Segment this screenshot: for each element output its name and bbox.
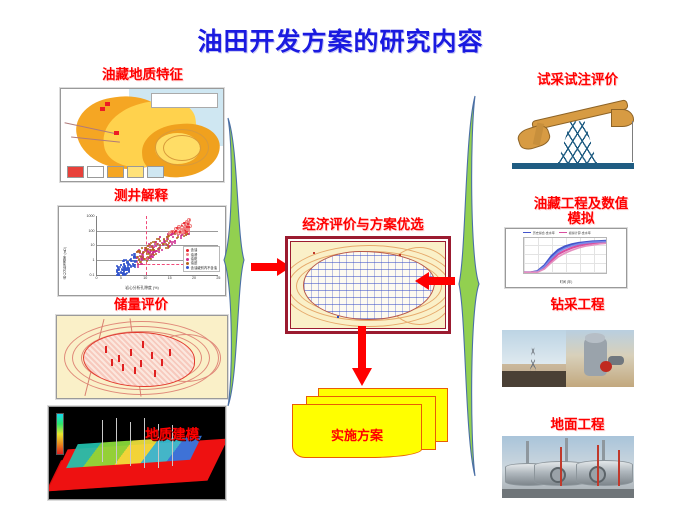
- implementation-plan-stack: 实施方案: [292, 388, 452, 458]
- scatter-legend: 含油油浸油斑油迹含油级别内不含油: [183, 246, 220, 272]
- pumpjack-base: [512, 163, 634, 169]
- x-tick: 20: [192, 276, 196, 280]
- model-colorbar: [56, 413, 64, 455]
- map-title-block: [151, 93, 218, 108]
- label-reservoir-engineering-simulation: 油藏工程及数值 模拟: [492, 196, 670, 226]
- scatter-point: [146, 253, 148, 255]
- scatter-point: [123, 263, 125, 265]
- label-economic-evaluation: 经济评价与方案优选: [283, 217, 443, 232]
- scatter-point: [174, 242, 176, 244]
- figure-3d-geological-model: 地质建模: [48, 406, 226, 500]
- x-tick: 25: [216, 276, 220, 280]
- label-geological-modeling: 地质建模: [123, 427, 222, 442]
- scatter-point: [163, 243, 165, 245]
- map-oil-block: [100, 107, 105, 111]
- scatter-x-axis-label: 岩心分析孔隙度 (%): [59, 286, 225, 291]
- scatter-point: [131, 254, 133, 256]
- label-reserve-evaluation: 储量评价: [58, 297, 224, 312]
- scatter-point: [176, 237, 178, 239]
- figure-surface-facility-photo: [502, 436, 634, 498]
- scatter-point: [129, 259, 131, 261]
- scatter-point: [142, 255, 144, 257]
- scatter-point: [166, 236, 168, 238]
- scatter-y-axis-label: 岩心分析渗透率 (mD): [62, 247, 67, 279]
- label-well-log-interpretation: 测井解释: [60, 188, 222, 203]
- slide-canvas: 油田开发方案的研究内容 油藏地质特征 测井解释 岩心分析渗透率 (mD) 100…: [0, 0, 681, 512]
- plan-sheet-front[interactable]: 实施方案: [292, 404, 422, 458]
- scatter-point: [167, 247, 169, 249]
- scatter-point: [186, 226, 188, 228]
- label-line-2: 模拟: [492, 211, 670, 226]
- scatter-point: [158, 251, 160, 253]
- simulation-x-axis-label: 时间 (年): [506, 279, 626, 284]
- legend-swatch: [186, 262, 189, 265]
- scatter-point: [137, 256, 139, 258]
- figure-drilling-rig-photo: [502, 330, 566, 387]
- scatter-point: [180, 237, 182, 239]
- scatter-point: [176, 227, 178, 229]
- scatter-point: [147, 250, 149, 252]
- legend-swatch: [186, 258, 189, 261]
- legend-label: 历史拟合-含水率: [533, 231, 555, 235]
- legend-label: 含油级别内不含油: [191, 266, 217, 270]
- figure-well-log-scatter: 岩心分析渗透率 (mD) 1000 100 10 1 0.1 0 5 10 15…: [58, 206, 226, 296]
- legend-swatch: [186, 266, 189, 269]
- vessel-manhole: [550, 467, 566, 483]
- scatter-point: [156, 250, 158, 252]
- figure-wellhead-photo: [566, 330, 634, 387]
- scatter-point: [152, 241, 154, 243]
- scatter-point: [137, 266, 139, 268]
- arrow-center-to-plan: [352, 326, 372, 386]
- scatter-point: [159, 244, 161, 246]
- label-production-injection-test: 试采试注评价: [495, 72, 660, 87]
- page-title: 油田开发方案的研究内容: [0, 22, 681, 58]
- scatter-point: [155, 253, 157, 255]
- legend-item: 含油级别内不含油: [186, 266, 217, 270]
- scatter-point: [188, 233, 190, 235]
- map-legend: [67, 166, 164, 178]
- label-reservoir-geology: 油藏地质特征: [60, 67, 225, 82]
- legend-item: 模拟计算-含水率: [559, 231, 591, 235]
- wellhead-cap: [585, 333, 605, 342]
- x-tick: 5: [120, 276, 122, 280]
- scatter-point: [166, 238, 168, 240]
- scatter-point: [117, 269, 119, 271]
- label-surface-engineering: 地面工程: [495, 417, 660, 432]
- scatter-point: [152, 252, 154, 254]
- y-tick: 100: [89, 229, 95, 233]
- right-curly-brace: [455, 94, 481, 478]
- red-pipe: [560, 447, 562, 485]
- simulation-plot-area: [523, 237, 607, 274]
- legend-swatch: [186, 253, 189, 256]
- label-line-1: 油藏工程及数值: [492, 196, 670, 211]
- simulation-legend: 历史拟合-含水率模拟计算-含水率: [523, 231, 591, 235]
- scatter-point: [156, 243, 158, 245]
- scatter-point: [172, 236, 174, 238]
- scatter-point: [159, 240, 161, 242]
- red-pipe: [597, 445, 599, 486]
- scatter-point: [163, 238, 165, 240]
- x-tick: 15: [168, 276, 172, 280]
- scatter-point: [159, 236, 161, 238]
- scatter-point: [158, 238, 160, 240]
- scatter-point: [143, 251, 145, 253]
- scatter-point: [138, 259, 140, 261]
- map-oil-block: [105, 102, 110, 106]
- legend-label: 模拟计算-含水率: [569, 231, 591, 235]
- implementation-plan-label: 实施方案: [293, 425, 421, 444]
- x-tick: 10: [143, 276, 147, 280]
- scatter-point: [187, 218, 191, 222]
- figure-geological-reservoir-map: [60, 88, 224, 182]
- scatter-point: [158, 248, 160, 250]
- scatter-point: [175, 230, 177, 232]
- label-drilling-production-engineering: 钻采工程: [495, 297, 660, 312]
- pumpjack-polished-rod: [632, 121, 634, 161]
- scatter-point: [161, 249, 163, 251]
- y-tick: 1: [93, 258, 95, 262]
- red-pipe: [618, 450, 620, 486]
- legend-item: 历史拟合-含水率: [523, 231, 555, 235]
- map-oil-block: [114, 131, 119, 135]
- left-curly-brace: [222, 116, 248, 408]
- y-tick: 10: [91, 243, 95, 247]
- legend-swatch: [186, 249, 189, 252]
- map-contour: [163, 135, 201, 161]
- figure-numerical-simulation: 历史拟合-含水率模拟计算-含水率 时间 (年): [505, 228, 627, 288]
- pumpjack-tower: [558, 121, 598, 163]
- scatter-point: [153, 246, 155, 248]
- legend-swatch: [559, 232, 567, 234]
- arrow-right-to-center: [415, 272, 455, 290]
- rig-ground: [502, 371, 566, 387]
- y-tick: 1000: [87, 214, 95, 218]
- legend-swatch: [523, 232, 531, 234]
- y-tick: 0.1: [90, 273, 95, 277]
- x-tick: 0: [96, 276, 98, 280]
- facility-ground: [502, 489, 634, 498]
- figure-pumpjack: [495, 90, 660, 182]
- scatter-point: [155, 245, 157, 247]
- scatter-point: [150, 258, 152, 260]
- scatter-point: [133, 265, 135, 267]
- figure-reserve-contour-map: [56, 315, 228, 399]
- pumpjack-horse-head: [611, 109, 634, 127]
